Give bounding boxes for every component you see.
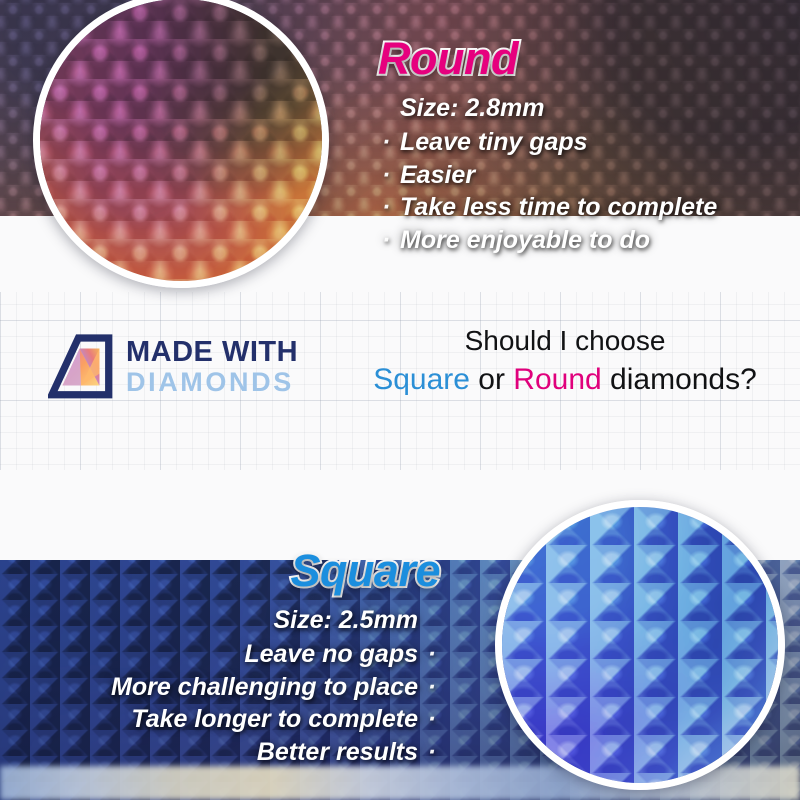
square-bullet-label: Leave no gaps (244, 640, 418, 668)
infographic-canvas: Round Size: 2.8mm · Leave tiny gaps · Ea… (0, 0, 800, 800)
bullet-dot-icon: · (382, 126, 390, 159)
bullet-dot-icon: · (428, 736, 436, 769)
square-heading: Square (10, 548, 440, 594)
round-magnifier-circle (33, 0, 329, 288)
square-bullet-label: More challenging to place (111, 673, 418, 701)
bullet-dot-icon: · (428, 671, 436, 704)
diamond-gem-icon (48, 334, 114, 400)
square-size-label: Size: 2.5mm (10, 604, 440, 637)
round-magnifier-texture-offset (40, 0, 322, 281)
square-magnifier-highlight-texture (502, 507, 778, 783)
square-bullet-label: Better results (257, 738, 418, 766)
bullet-dot-icon: · (382, 191, 390, 224)
list-item: · Easier (378, 159, 788, 192)
round-bullet-label: More enjoyable to do (400, 226, 650, 254)
square-bullet-label: Take longer to complete (131, 705, 418, 733)
list-item: · Leave tiny gaps (378, 126, 788, 159)
brand-wordmark: MADE WITH DIAMONDS (126, 338, 298, 396)
brand-logo[interactable]: MADE WITH DIAMONDS (48, 334, 298, 400)
round-heading: Round (378, 36, 788, 82)
center-band: MADE WITH DIAMONDS Should I choose Squar… (0, 292, 800, 470)
round-text-block: Round Size: 2.8mm · Leave tiny gaps · Ea… (378, 36, 788, 256)
round-bullet-label: Take less time to complete (400, 193, 717, 221)
bullet-dot-icon: · (382, 159, 390, 192)
round-size-label: Size: 2.8mm (378, 92, 788, 125)
question-line-1: Should I choose (350, 322, 780, 360)
brand-line-diamonds: DIAMONDS (126, 369, 298, 396)
square-bullet-list: Leave no gaps · More challenging to plac… (10, 638, 440, 768)
list-item: · More enjoyable to do (378, 224, 788, 257)
bullet-dot-icon: · (428, 638, 436, 671)
list-item: Take longer to complete · (10, 703, 440, 736)
square-magnifier-circle (495, 500, 785, 790)
list-item: More challenging to place · (10, 671, 440, 704)
question-line-2: Square or Round diamonds? (350, 360, 780, 400)
bullet-dot-icon: · (428, 703, 436, 736)
list-item: · Take less time to complete (378, 191, 788, 224)
question-connector: or (470, 363, 513, 396)
list-item: Better results · (10, 736, 440, 769)
round-bullet-label: Leave tiny gaps (400, 128, 588, 156)
question-square-word: Square (373, 363, 470, 396)
question-round-word: Round (513, 363, 601, 396)
round-bullet-list: · Leave tiny gaps · Easier · Take less t… (378, 126, 788, 256)
question-block: Should I choose Square or Round diamonds… (350, 322, 780, 400)
round-bullet-label: Easier (400, 161, 475, 189)
question-tail: diamonds? (602, 363, 757, 396)
list-item: Leave no gaps · (10, 638, 440, 671)
bullet-dot-icon: · (382, 224, 390, 257)
brand-line-made-with: MADE WITH (126, 338, 298, 367)
square-text-block: Square Size: 2.5mm Leave no gaps · More … (10, 548, 440, 768)
